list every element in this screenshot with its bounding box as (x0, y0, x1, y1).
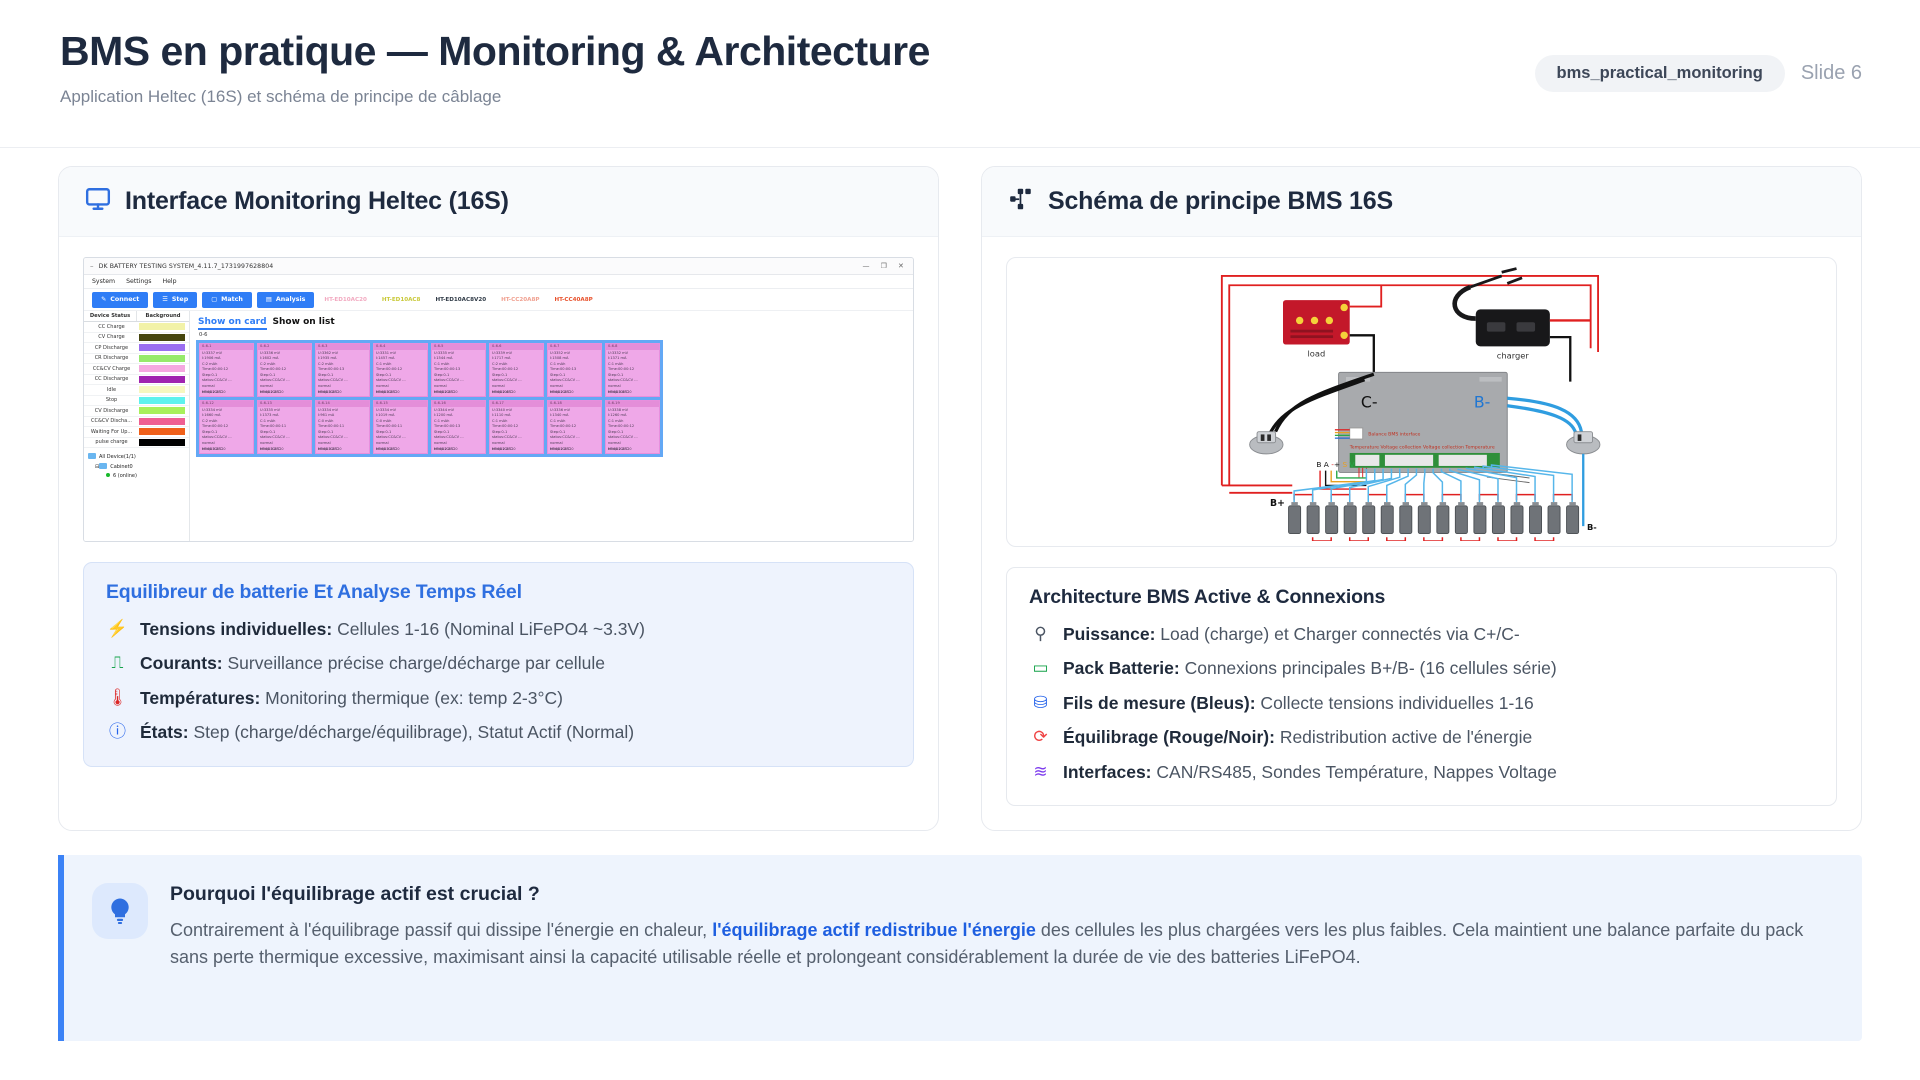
battery-cell (1529, 506, 1541, 534)
col-background: Background (137, 311, 189, 321)
cell-id: 0-6-6 (490, 344, 543, 350)
battery-cell (1288, 506, 1300, 534)
status-row: CV Charge (84, 333, 189, 344)
callout-why-active-balancing: Pourquoi l'équilibrage actif est crucial… (58, 855, 1862, 1041)
monitoring-info-text: États: Step (charge/décharge/équilibrage… (140, 720, 634, 745)
cell-card[interactable]: 0-6-6 U:3339 mV I:1717 mA C:2 mAh Time:0… (489, 343, 544, 397)
cell-card[interactable]: 0-6-8 U:3332 mV I:1371 mA C:1 mAh Time:0… (605, 343, 660, 397)
cell-card[interactable]: 0-6-18 U:3336 mV I:1340 mA C:1 mAh Time:… (547, 400, 602, 454)
status-label: CV Discharge (84, 408, 139, 414)
callout-highlight: l'équilibrage actif redistribue l'énergi… (712, 920, 1036, 940)
cell-id: 0-6-13 (258, 401, 311, 407)
status-row: CR Discharge (84, 354, 189, 365)
battery-icon: ▭ (1029, 656, 1052, 680)
architecture-info-row: ⛁ Fils de mesure (Bleus): Collecte tensi… (1029, 691, 1814, 716)
status-row: CC Discharge (84, 375, 189, 386)
card-body-schematic: load charger (982, 237, 1861, 830)
waveform-icon: ⎍ (106, 651, 129, 675)
battery-cell (1381, 506, 1393, 534)
bms-wiring-diagram: load charger (1006, 257, 1837, 547)
cell-grid-row-2: 0-6-12 U:3334 mV I:1660 mA C:2 mAh Time:… (199, 400, 660, 454)
monitoring-info-label: Températures: (140, 688, 260, 708)
cell-id: 0-6-2 (258, 344, 311, 350)
status-swatch (139, 376, 185, 383)
toolbar-tab[interactable]: HT-CC40A8P (549, 297, 597, 303)
card-header-monitoring: Interface Monitoring Heltec (16S) (59, 167, 938, 237)
app-menubar: SystemSettingsHelp (84, 275, 913, 289)
cell-serial: HT-ED10AC20 (550, 447, 574, 452)
architecture-info-text: Pack Batterie: Connexions principales B+… (1063, 656, 1557, 681)
cell-id: 0-6-15 (374, 401, 427, 407)
status-swatch (139, 334, 185, 341)
monitoring-info-label: États: (140, 722, 189, 742)
cell-id: 0-6-18 (548, 401, 601, 407)
callout-text-before: Contrairement à l'équilibrage passif qui… (170, 920, 712, 940)
cell-id: 0-6-14 (316, 401, 369, 407)
cell-serial: HT-ED10AC20 (608, 390, 632, 395)
sitemap-icon (1008, 186, 1034, 217)
architecture-info-text: Équilibrage (Rouge/Noir): Redistribution… (1063, 725, 1532, 750)
status-label: CC Charge (84, 324, 139, 330)
card-title-schematic: Schéma de principe BMS 16S (1048, 187, 1393, 216)
folder-icon (99, 463, 107, 469)
battery-cell (1307, 506, 1319, 534)
monitoring-info-title: Equilibreur de batterie Et Analyse Temps… (106, 581, 891, 604)
toolbar-match-button[interactable]: ▢Match (202, 292, 252, 308)
tab-show-on-card[interactable]: Show on card (198, 317, 267, 330)
card-schematic: Schéma de principe BMS 16S load (981, 166, 1862, 831)
device-status-panel: Device Status Background CC ChargeCV Cha… (84, 311, 190, 541)
cell-serial: HT-ED10AC20 (260, 447, 284, 452)
status-swatch (139, 344, 185, 351)
status-row-list: CC ChargeCV ChargeCP DischargeCR Dischar… (84, 322, 189, 448)
cell-serial: HT-ED10AC20 (202, 447, 226, 452)
maximize-icon[interactable]: ❐ (881, 262, 887, 270)
battery-cell (1492, 506, 1504, 534)
tree-node[interactable]: 6 (online) (88, 472, 185, 482)
architecture-info-row: ⟳ Équilibrage (Rouge/Noir): Redistributi… (1029, 725, 1814, 750)
status-row: CC&CV Discha... (84, 417, 189, 428)
main-content: Interface Monitoring Heltec (16S) – DK B… (0, 148, 1920, 831)
chart-icon: ▤ (266, 296, 272, 303)
battery-cell (1455, 506, 1467, 534)
status-label: Waiting For Up... (84, 429, 139, 435)
cell-id: 0-6-17 (490, 401, 543, 407)
status-label: CC&CV Discha... (84, 418, 139, 424)
status-label: CR Discharge (84, 355, 139, 361)
label-b-plus: B+ (1270, 498, 1285, 509)
app-menu-system[interactable]: System (92, 278, 115, 285)
status-swatch (139, 397, 185, 404)
tab-show-on-list[interactable]: Show on list (273, 317, 335, 327)
status-swatch (139, 323, 185, 330)
architecture-info-label: Fils de mesure (Bleus): (1063, 693, 1256, 713)
cell-card[interactable]: 0-6-2 U:3336 mV I:1602 mA C:2 mAh Time:0… (257, 343, 312, 397)
battery-cell (1325, 506, 1337, 534)
tree-root[interactable]: All Device(1/1) (88, 453, 185, 463)
cell-card[interactable]: 0-6-19 U:3338 mV I:1260 mA C:1 mAh Time:… (605, 400, 660, 454)
callout-text-block: Pourquoi l'équilibrage actif est crucial… (170, 881, 1832, 971)
status-label: CC Discharge (84, 376, 139, 382)
architecture-info-text: Interfaces: CAN/RS485, Sondes Températur… (1063, 760, 1557, 785)
device-tree: All Device(1/1) ⊟Cabinet0 6 (online) (84, 448, 189, 487)
status-swatch (139, 428, 185, 435)
cell-id: 0-6-12 (200, 401, 253, 407)
status-swatch (139, 418, 185, 425)
battery-cell (1362, 506, 1374, 534)
architecture-info-label: Interfaces: (1063, 762, 1152, 782)
monitoring-info-row: ⓘ États: Step (charge/décharge/équilibra… (106, 720, 891, 745)
book-icon: ▢ (211, 296, 217, 303)
battery-cell (1418, 506, 1430, 534)
cell-serial: HT-ED10AC20 (492, 447, 516, 452)
cell-group-label: 0-6 (196, 328, 907, 340)
toolbar-tab[interactable]: HT-ED10AC8 (377, 297, 426, 303)
cell-card[interactable]: 0-6-17 U:3340 mV I:1110 mA C:1 mAh Time:… (489, 400, 544, 454)
cell-id: 0-6-5 (432, 344, 485, 350)
cell-card[interactable]: 0-6-7 U:3352 mV I:1508 mA C:1 mAh Time:0… (547, 343, 602, 397)
architecture-info-row: ≋ Interfaces: CAN/RS485, Sondes Températ… (1029, 760, 1814, 785)
cell-id: 0-6-1 (200, 344, 253, 350)
status-row: CC Charge (84, 322, 189, 333)
app-titlebar: – DK BATTERY TESTING SYSTEM_4.11.7_17319… (84, 258, 913, 275)
toolbar-tab[interactable]: HT-ED10AC8V20 (430, 297, 491, 303)
bolt-icon: ⚡ (106, 617, 129, 641)
app-main-area: Device Status Background CC ChargeCV Cha… (84, 311, 913, 541)
cell-serial: HT-ED10AC20 (376, 390, 400, 395)
info-circle-icon: ⓘ (106, 720, 129, 744)
cell-card[interactable]: 0-6-12 U:3334 mV I:1660 mA C:2 mAh Time:… (199, 400, 254, 454)
refresh-icon: ⟳ (1029, 725, 1052, 749)
plug-icon: ⚲ (1029, 622, 1052, 646)
cells-area: Show on cardShow on list 0-6 0-6-1 U:333… (190, 311, 913, 541)
svg-text:Temperature Voltage collecti: Temperature Voltage collection Voltage c… (1348, 444, 1494, 450)
status-row: CV Discharge (84, 406, 189, 417)
cell-card[interactable]: 0-6-14 U:3334 mV I:961 mA C:0 mAh Time:0… (315, 400, 370, 454)
cell-serial: HT-ED10AC20 (492, 390, 516, 395)
cell-serial: HT-ED10AC20 (318, 447, 342, 452)
app-window-title: DK BATTERY TESTING SYSTEM_4.11.7_1731997… (99, 263, 274, 270)
card-monitoring-interface: Interface Monitoring Heltec (16S) – DK B… (58, 166, 939, 831)
architecture-info-text: Fils de mesure (Bleus): Collecte tension… (1063, 691, 1534, 716)
status-swatch (139, 386, 185, 393)
header-meta: bms_practical_monitoring Slide 6 (1535, 55, 1862, 92)
slide-number: Slide 6 (1801, 62, 1862, 85)
monitoring-info-text: Courants: Surveillance précise charge/dé… (140, 651, 605, 676)
embedded-app-screenshot: – DK BATTERY TESTING SYSTEM_4.11.7_17319… (83, 257, 914, 542)
label-c-minus: C- (1360, 393, 1377, 412)
list-icon: ☰ (162, 296, 168, 303)
minimize-icon[interactable]: — (863, 262, 870, 270)
status-swatch (139, 439, 185, 446)
callout-body: Contrairement à l'équilibrage passif qui… (170, 917, 1832, 971)
label-charger: charger (1496, 350, 1529, 360)
cell-serial: HT-ED10AC20 (202, 390, 226, 395)
label-load: load (1307, 349, 1325, 359)
svg-text:Balance BMS interface: Balance BMS interface (1368, 431, 1420, 437)
battery-cell (1344, 506, 1356, 534)
toolbar-tab[interactable]: HT-CC20A8P (496, 297, 544, 303)
battery-cell (1399, 506, 1411, 534)
cell-id: 0-6-16 (432, 401, 485, 407)
cell-serial: HT-ED10AC20 (434, 447, 458, 452)
window-controls: — ❐ ✕ (863, 262, 907, 270)
monitoring-info-box: Equilibreur de batterie Et Analyse Temps… (83, 562, 914, 767)
label-b-minus-board: B- (1473, 393, 1490, 412)
cell-serial: HT-ED10AC20 (376, 447, 400, 452)
cell-id: 0-6-3 (316, 344, 369, 350)
cell-serial: HT-ED10AC20 (318, 390, 342, 395)
monitoring-info-rows: ⚡ Tensions individuelles: Cellules 1-16 … (106, 617, 891, 746)
status-panel-header: Device Status Background (84, 311, 189, 322)
cell-card[interactable]: 0-6-4 U:3331 mV I:1457 mA C:1 mAh Time:0… (373, 343, 428, 397)
monitoring-info-text: Tensions individuelles: Cellules 1-16 (N… (140, 617, 645, 642)
cell-id: 0-6-19 (606, 401, 659, 407)
status-row: Stop (84, 396, 189, 407)
label-b-minus: B- (1586, 522, 1596, 532)
monitoring-info-label: Courants: (140, 653, 223, 673)
monitor-icon (85, 186, 111, 217)
col-device-status: Device Status (84, 311, 137, 321)
cell-grid-container: 0-6-1 U:3337 mV I:1906 mA C:2 mAh Time:0… (196, 340, 663, 457)
monitoring-info-label: Tensions individuelles: (140, 619, 332, 639)
status-label: pulse charge (84, 439, 139, 445)
online-dot-icon (106, 473, 110, 477)
cell-grid-row-1: 0-6-1 U:3337 mV I:1906 mA C:2 mAh Time:0… (199, 343, 660, 397)
status-label: CV Charge (84, 334, 139, 340)
cell-serial: HT-ED10AC20 (434, 390, 458, 395)
architecture-info-row: ⚲ Puissance: Load (charge) et Charger co… (1029, 622, 1814, 647)
view-mode-tabs: Show on cardShow on list (196, 315, 907, 328)
cell-card[interactable]: 0-6-1 U:3337 mV I:1906 mA C:2 mAh Time:0… (199, 343, 254, 397)
status-swatch (139, 407, 185, 414)
architecture-info-label: Pack Batterie: (1063, 658, 1180, 678)
status-label: CC&CV Charge (84, 366, 139, 372)
folder-icon (88, 453, 96, 459)
monitoring-info-text: Températures: Monitoring thermique (ex: … (140, 686, 563, 711)
architecture-info-rows: ⚲ Puissance: Load (charge) et Charger co… (1029, 622, 1814, 785)
app-toolbar: ✎Connect☰Step▢Match▤AnalysisHT-ED10AC20H… (84, 289, 913, 311)
toolbar-tab[interactable]: HT-ED10AC20 (319, 297, 371, 303)
status-row: Idle (84, 385, 189, 396)
cell-card[interactable]: 0-6-13 U:3335 mV I:1373 mA C:1 mAh Time:… (257, 400, 312, 454)
status-row: CP Discharge (84, 343, 189, 354)
cell-serial: HT-ED10AC20 (608, 447, 632, 452)
status-row: CC&CV Charge (84, 364, 189, 375)
close-icon[interactable]: ✕ (898, 262, 904, 270)
toolbar-connect-button[interactable]: ✎Connect (92, 292, 148, 308)
wiring-diagram-svg: load charger (1207, 263, 1637, 541)
cell-serial: HT-ED10AC20 (550, 390, 574, 395)
battery-cell (1473, 506, 1485, 534)
cell-id: 0-6-7 (548, 344, 601, 350)
thermometer-icon: 🌡 (106, 686, 129, 710)
svg-text:B A -+ S V: B A -+ S V (1316, 460, 1354, 469)
battery-cell (1566, 506, 1578, 534)
cell-serial: HT-ED10AC20 (260, 390, 284, 395)
cell-card[interactable]: 0-6-16 U:3344 mV I:1200 mA C:1 mAh Time:… (431, 400, 486, 454)
app-menu-help[interactable]: Help (162, 278, 176, 285)
cell-id: 0-6-4 (374, 344, 427, 350)
card-body-monitoring: – DK BATTERY TESTING SYSTEM_4.11.7_17319… (59, 237, 938, 830)
cell-id: 0-6-8 (606, 344, 659, 350)
architecture-info-row: ▭ Pack Batterie: Connexions principales … (1029, 656, 1814, 681)
page-header: BMS en pratique — Monitoring & Architect… (0, 0, 1920, 148)
status-label: Idle (84, 387, 139, 393)
monitoring-info-row: ⎍ Courants: Surveillance précise charge/… (106, 651, 891, 676)
architecture-info-label: Puissance: (1063, 624, 1155, 644)
card-title-monitoring: Interface Monitoring Heltec (16S) (125, 187, 509, 216)
monitoring-info-row: 🌡 Températures: Monitoring thermique (ex… (106, 686, 891, 711)
card-header-schematic: Schéma de principe BMS 16S (982, 167, 1861, 237)
status-row: pulse charge (84, 438, 189, 449)
cell-card[interactable]: 0-6-3 U:3362 mV I:1935 mA C:2 mAh Time:0… (315, 343, 370, 397)
status-row: Waiting For Up... (84, 427, 189, 438)
status-swatch (139, 355, 185, 362)
app-menu-settings[interactable]: Settings (126, 278, 151, 285)
architecture-info-text: Puissance: Load (charge) et Charger conn… (1063, 622, 1520, 647)
battery-cell (1436, 506, 1448, 534)
wifi-icon: ≋ (1029, 760, 1052, 784)
architecture-info-label: Équilibrage (Rouge/Noir): (1063, 727, 1275, 747)
tree-cabinet[interactable]: ⊟Cabinet0 (88, 463, 185, 473)
toolbar-step-button[interactable]: ☰Step (153, 292, 197, 308)
cell-card[interactable]: 0-6-15 U:3334 mV I:1019 mA C:0 mAh Time:… (373, 400, 428, 454)
lightbulb-icon (92, 883, 148, 939)
deck-name-badge: bms_practical_monitoring (1535, 55, 1785, 92)
app-icon: – (90, 262, 94, 270)
architecture-info-box: Architecture BMS Active & Connexions ⚲ P… (1006, 567, 1837, 806)
architecture-info-title: Architecture BMS Active & Connexions (1029, 586, 1814, 609)
network-icon: ⛁ (1029, 691, 1052, 715)
status-swatch (139, 365, 185, 372)
cell-card[interactable]: 0-6-5 U:3335 mV I:1544 mA C:1 mAh Time:0… (431, 343, 486, 397)
status-label: CP Discharge (84, 345, 139, 351)
toolbar-analysis-button[interactable]: ▤Analysis (257, 292, 314, 308)
battery-cell (1548, 506, 1560, 534)
callout-title: Pourquoi l'équilibrage actif est crucial… (170, 883, 1832, 906)
pencil-icon: ✎ (101, 296, 106, 303)
status-label: Stop (84, 397, 139, 403)
battery-cell (1510, 506, 1522, 534)
monitoring-info-row: ⚡ Tensions individuelles: Cellules 1-16 … (106, 617, 891, 642)
